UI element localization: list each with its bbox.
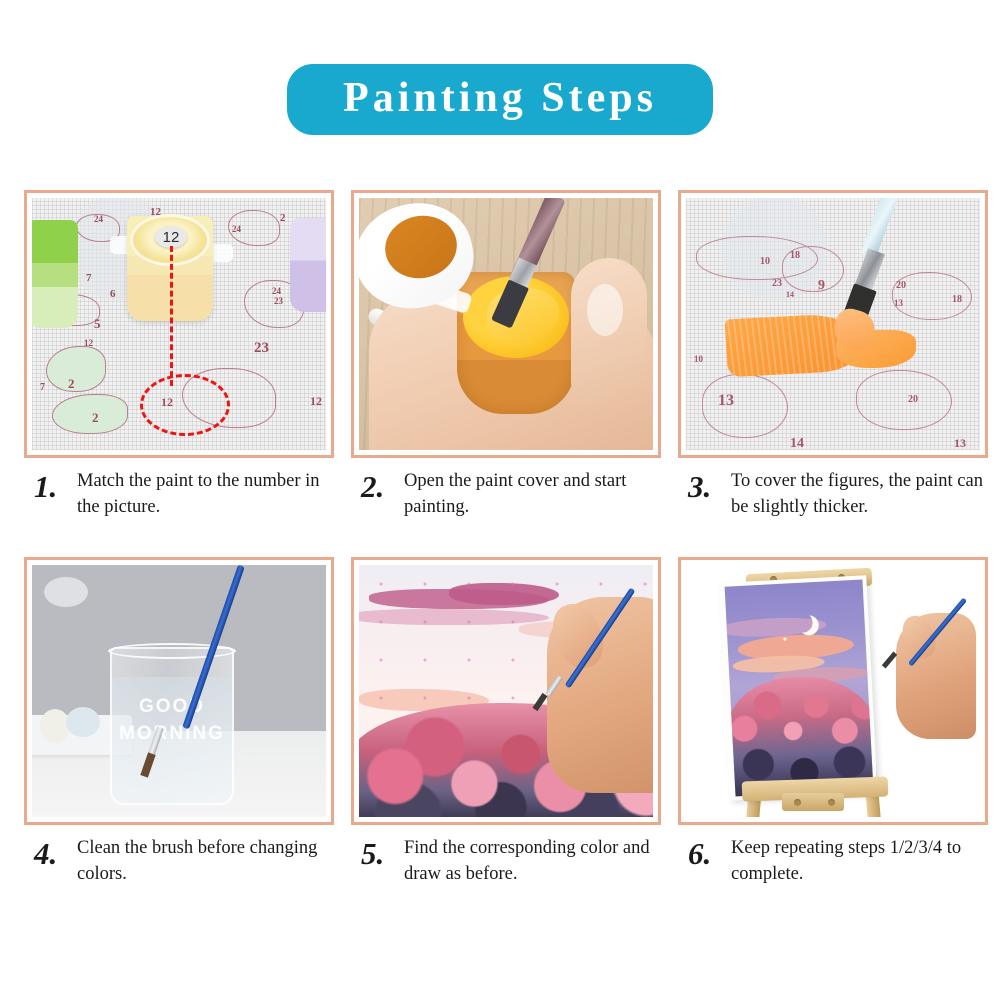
open-paint-cover-photo xyxy=(359,198,653,450)
canvas-shape xyxy=(52,394,128,434)
step-6-photo-frame xyxy=(678,557,988,825)
step-card-5: 5. Find the corresponding color and draw… xyxy=(351,557,661,888)
canvas-artwork xyxy=(725,579,874,796)
glass-text-line-1: GOOD xyxy=(110,693,234,721)
step-1-caption: 1. Match the paint to the number in the … xyxy=(24,468,334,521)
glass-printed-text: GOOD MORNING xyxy=(110,693,234,748)
step-card-2: 2. Open the paint cover and start painti… xyxy=(351,190,661,521)
canvas-outline xyxy=(702,374,788,438)
canvas-number: 7 xyxy=(40,382,45,393)
canvas-number: 5 xyxy=(94,316,101,332)
step-3-caption: 3. To cover the figures, the paint can b… xyxy=(678,468,988,521)
background-object xyxy=(66,707,100,737)
canvas-number: 24 xyxy=(272,286,281,296)
canvas-number: 10 xyxy=(760,256,770,267)
background-object xyxy=(44,577,88,607)
canvas-number: 14 xyxy=(790,436,804,450)
step-number-6: 6. xyxy=(688,835,722,869)
star-icon xyxy=(783,637,786,640)
canvas-number: 12 xyxy=(84,338,93,348)
target-region-number: 12 xyxy=(161,395,173,410)
step-number-2: 2. xyxy=(361,468,395,502)
canvas-number: 24 xyxy=(94,214,103,224)
canvas-number: 10 xyxy=(694,354,703,364)
step-4-photo-frame: GOOD MORNING xyxy=(24,557,334,825)
step-card-1: 12 24 2 24 7 6 5 12 2 7 2 23 24 23 xyxy=(24,190,334,521)
step-6-caption: 6. Keep repeating steps 1/2/3/4 to compl… xyxy=(678,835,988,888)
step-3-photo-frame: 10 18 23 14 9 20 13 18 20 13 14 20 10 13 xyxy=(678,190,988,458)
paint-pot-number-label: 12 xyxy=(155,226,187,248)
steps-grid: 12 24 2 24 7 6 5 12 2 7 2 23 24 23 xyxy=(24,190,979,887)
step-2-caption: 2. Open the paint cover and start painti… xyxy=(351,468,661,521)
clean-brush-in-water-glass-photo: GOOD MORNING xyxy=(32,565,326,817)
canvas-number: 2 xyxy=(68,376,75,392)
step-5-caption: 5. Find the corresponding color and draw… xyxy=(351,835,661,888)
canvas-shape xyxy=(46,346,106,392)
steps-row-1: 12 24 2 24 7 6 5 12 2 7 2 23 24 23 xyxy=(24,190,979,521)
canvas-number: 23 xyxy=(274,296,283,306)
canvas-number: 2 xyxy=(280,212,286,224)
canvas-outline xyxy=(856,370,952,430)
step-4-caption: 4. Clean the brush before changing color… xyxy=(24,835,334,888)
step-number-1: 1. xyxy=(34,468,68,502)
step-text-1: Match the paint to the number in the pic… xyxy=(77,468,334,521)
step-number-5: 5. xyxy=(361,835,395,869)
step-2-photo-frame xyxy=(351,190,661,458)
step-number-3: 3. xyxy=(688,468,722,502)
canvas-number: 6 xyxy=(110,288,116,300)
canvas-number: 18 xyxy=(952,294,962,305)
step-number-4: 4. xyxy=(34,835,68,869)
step-5-photo-frame xyxy=(351,557,661,825)
green-paint-pot xyxy=(32,220,78,328)
fingernail xyxy=(587,284,623,336)
painting-steps-infographic: Painting Steps 12 xyxy=(0,0,1000,1000)
easel-screw xyxy=(794,799,801,806)
easel-screw xyxy=(828,799,835,806)
title-banner: Painting Steps xyxy=(0,64,1000,135)
step-card-3: 10 18 23 14 9 20 13 18 20 13 14 20 10 13 xyxy=(678,190,988,521)
red-dashed-callout-ellipse xyxy=(140,374,230,436)
thick-paint-stroke-photo: 10 18 23 14 9 20 13 18 20 13 14 20 10 13 xyxy=(686,198,980,450)
step-text-6: Keep repeating steps 1/2/3/4 to complete… xyxy=(731,835,988,888)
finished-canvas xyxy=(718,575,877,800)
painting-blossom-canvas-photo xyxy=(359,565,653,817)
step-card-6: 6. Keep repeating steps 1/2/3/4 to compl… xyxy=(678,557,988,888)
steps-row-2: GOOD MORNING 4. Clean the brush before c… xyxy=(24,557,979,888)
canvas-number: 24 xyxy=(232,224,241,234)
step-text-2: Open the paint cover and start painting. xyxy=(404,468,661,521)
glass-text-line-2: MORNING xyxy=(110,720,234,748)
title-pill: Painting Steps xyxy=(287,64,713,135)
purple-paint-pot xyxy=(290,218,326,312)
canvas-number: 23 xyxy=(254,340,269,357)
canvas-number: 13 xyxy=(954,436,966,450)
canvas-number: 2 xyxy=(92,410,99,426)
step-text-4: Clean the brush before changing colors. xyxy=(77,835,334,888)
finished-painting-on-easel-photo xyxy=(686,565,980,817)
step-text-5: Find the corresponding color and draw as… xyxy=(404,835,661,888)
page-title: Painting Steps xyxy=(343,77,657,119)
step-1-photo-frame: 12 24 2 24 7 6 5 12 2 7 2 23 24 23 xyxy=(24,190,334,458)
step-text-3: To cover the figures, the paint can be s… xyxy=(731,468,988,521)
canvas-number: 13 xyxy=(718,392,734,410)
red-dashed-callout-line xyxy=(170,246,173,386)
canvas-number: 12 xyxy=(310,394,322,409)
canvas-number: 20 xyxy=(908,394,918,405)
canvas-number: 23 xyxy=(772,278,782,289)
canvas-number: 13 xyxy=(894,298,903,308)
step-card-4: GOOD MORNING 4. Clean the brush before c… xyxy=(24,557,334,888)
canvas-number: 9 xyxy=(818,278,825,294)
canvas-number: 20 xyxy=(896,280,906,291)
canvas-number: 7 xyxy=(86,272,92,284)
canvas-number: 18 xyxy=(790,250,800,261)
paint-pot-matching-number-photo: 12 24 2 24 7 6 5 12 2 7 2 23 24 23 xyxy=(32,198,326,450)
canvas-number: 14 xyxy=(786,290,794,299)
